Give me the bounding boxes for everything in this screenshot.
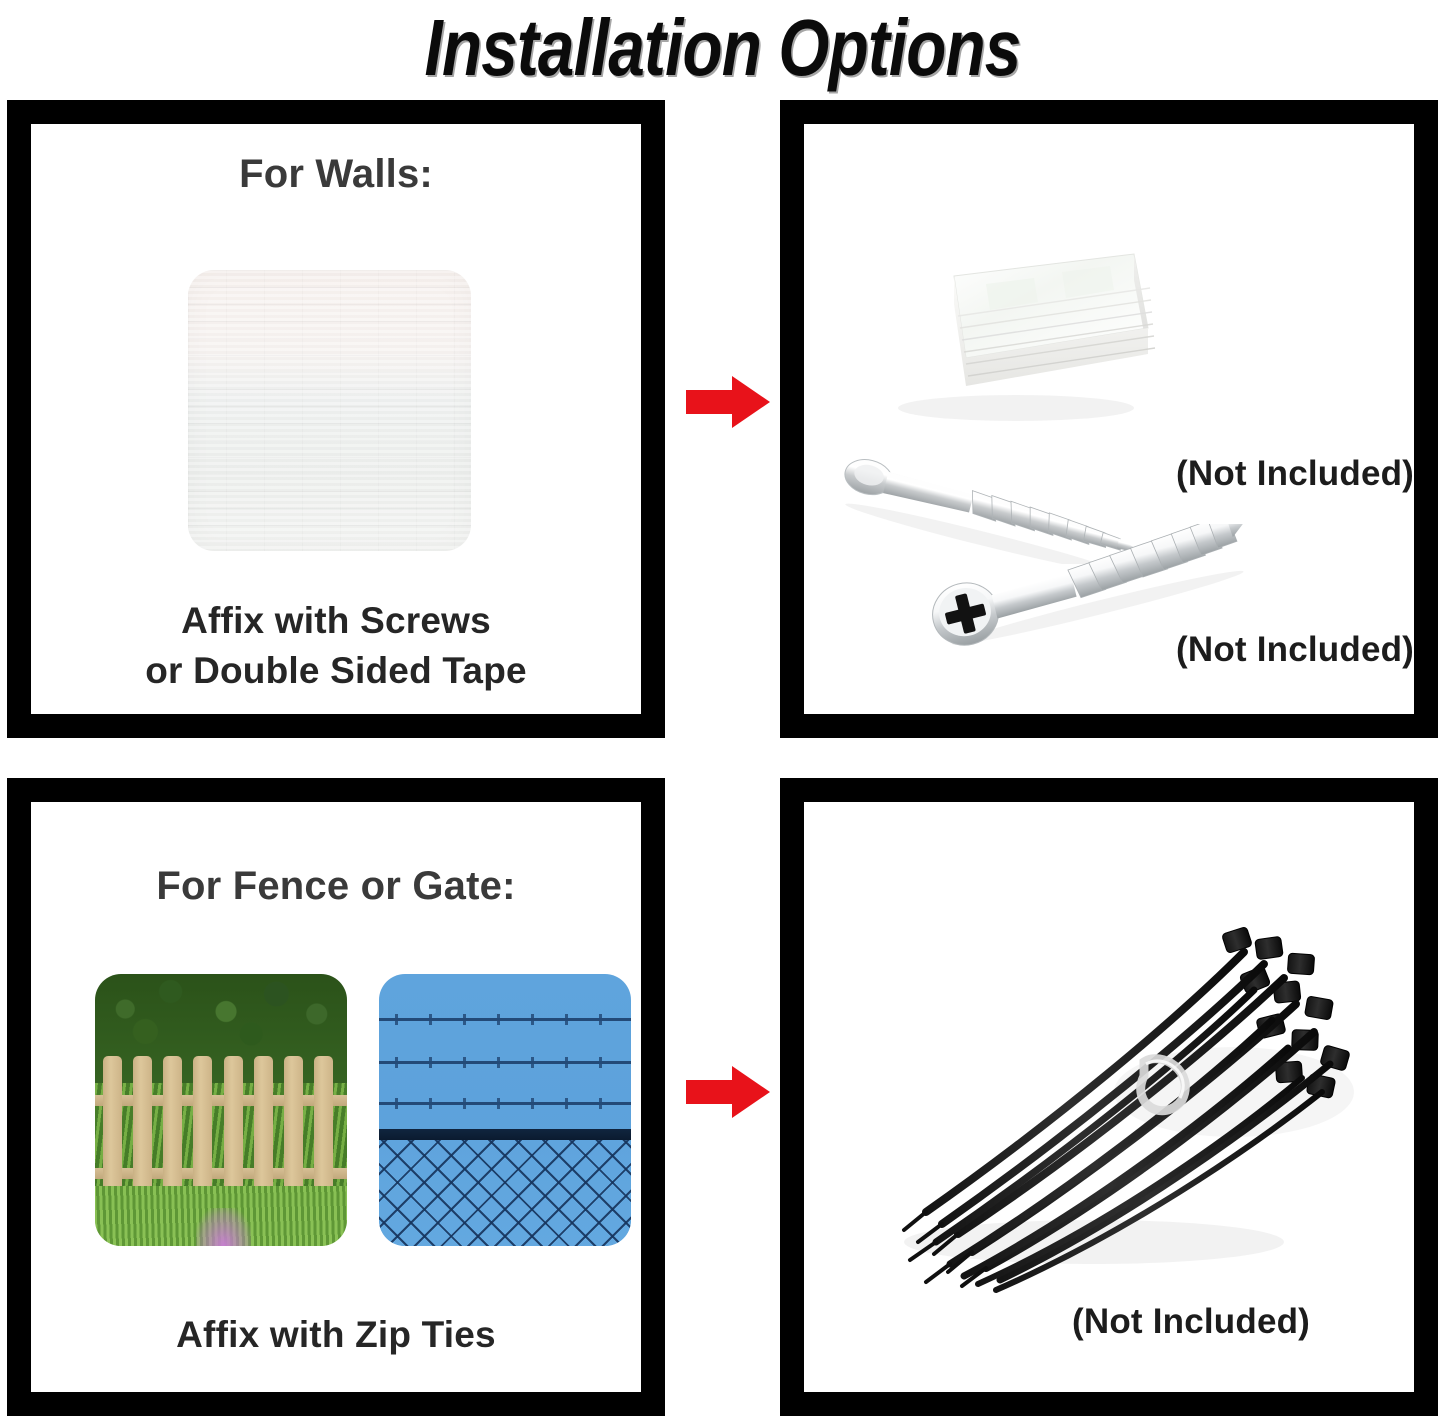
page-title: Installation Options bbox=[130, 0, 1315, 96]
for-walls-caption-line1: Affix with Screws bbox=[31, 596, 641, 646]
chain-link-barbed-wire-fence-photo bbox=[379, 974, 631, 1246]
panel-for-walls-content: For Walls: Affix with Screws or Double S… bbox=[31, 124, 641, 714]
for-walls-heading: For Walls: bbox=[31, 152, 641, 197]
panel-wall-hardware: (Not Included) bbox=[780, 100, 1438, 738]
panel-zip-ties-content: (Not Included) bbox=[804, 802, 1414, 1392]
black-zip-ties-bundle bbox=[844, 912, 1364, 1302]
panel-zip-ties: (Not Included) bbox=[780, 778, 1438, 1416]
zipties-not-included-note: (Not Included) bbox=[1072, 1302, 1310, 1342]
panel-wall-hardware-content: (Not Included) bbox=[804, 124, 1414, 714]
tape-not-included-note: (Not Included) bbox=[1176, 454, 1414, 494]
red-right-arrow-icon bbox=[686, 374, 770, 430]
screws-not-included-note: (Not Included) bbox=[1176, 630, 1414, 670]
for-fence-heading: For Fence or Gate: bbox=[31, 864, 641, 909]
white-brick-wall-swatch bbox=[188, 270, 471, 551]
for-walls-caption-line2: or Double Sided Tape bbox=[31, 646, 641, 696]
double-sided-tape-stack bbox=[866, 232, 1166, 432]
panel-for-walls: For Walls: Affix with Screws or Double S… bbox=[7, 100, 665, 738]
wooden-picket-fence-photo bbox=[95, 974, 347, 1246]
panel-for-fence-or-gate: For Fence or Gate: bbox=[7, 778, 665, 1416]
for-fence-caption: Affix with Zip Ties bbox=[31, 1310, 641, 1360]
panel-for-fence-or-gate-content: For Fence or Gate: bbox=[31, 802, 641, 1392]
red-right-arrow-icon bbox=[686, 1064, 770, 1120]
